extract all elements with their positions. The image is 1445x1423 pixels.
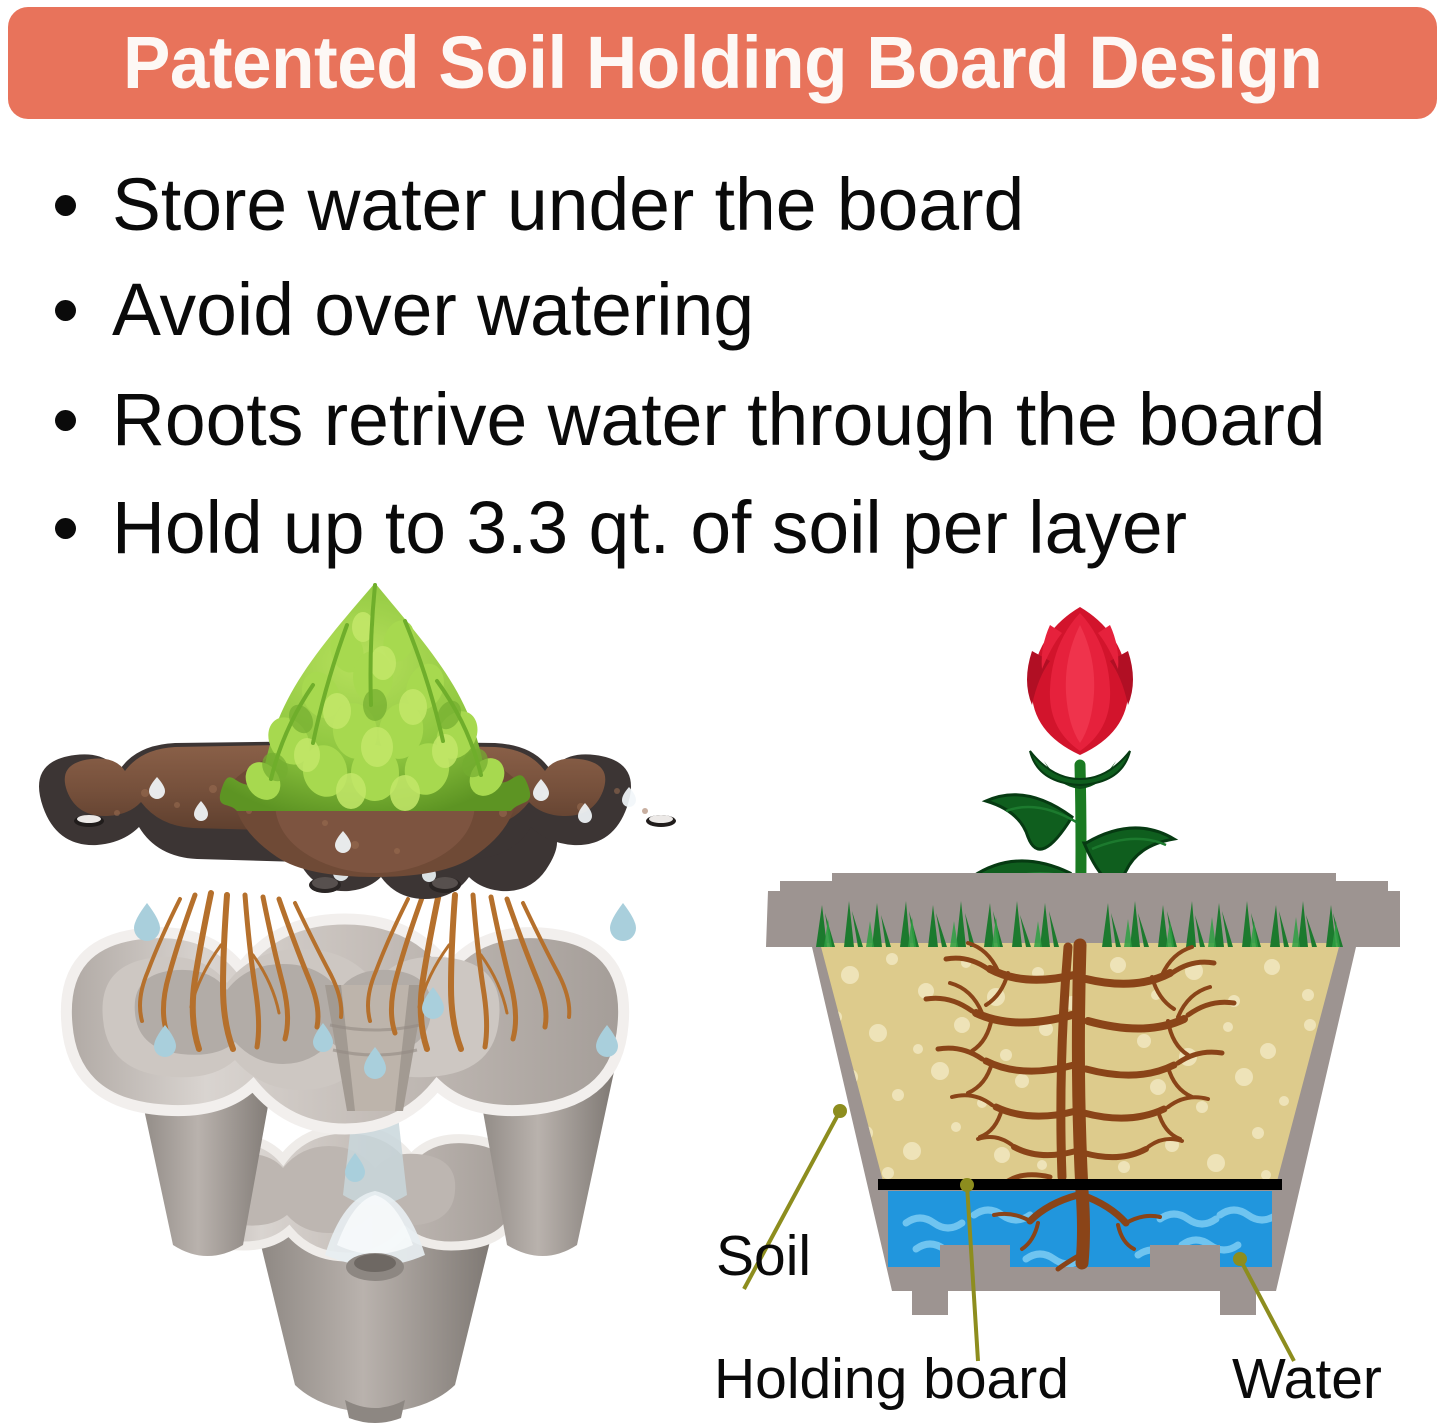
figures-area (0, 555, 1445, 1423)
header-banner: Patented Soil Holding Board Design (8, 7, 1437, 119)
feature-label: Avoid over watering (112, 271, 754, 349)
callout-label-holding-board: Holding board (714, 1350, 1069, 1408)
feature-item-1: Avoid over watering (55, 267, 761, 353)
feature-item-2: Roots retrive water through the board (55, 377, 1338, 463)
stackable-planter-illustration (25, 555, 725, 1423)
callout-label-soil: Soil (716, 1227, 811, 1285)
bullet-icon (55, 410, 76, 431)
bullet-icon (55, 195, 76, 216)
callout-label-water: Water (1232, 1350, 1382, 1408)
bullet-icon (55, 518, 76, 539)
feature-item-0: Store water under the board (55, 162, 1033, 248)
feature-label: Store water under the board (112, 166, 1024, 244)
stackable-planter-photo (25, 555, 725, 1423)
artificial-plant-bush (220, 583, 530, 811)
cross-section-illustration (720, 555, 1445, 1423)
pot-cross-section-diagram (720, 555, 1445, 1423)
page-title: Patented Soil Holding Board Design (123, 26, 1322, 100)
feature-list: Store water under the board Avoid over w… (0, 150, 1445, 570)
bullet-icon (55, 300, 76, 321)
feature-label: Roots retrive water through the board (112, 381, 1326, 459)
holding-board-line (878, 1179, 1282, 1190)
